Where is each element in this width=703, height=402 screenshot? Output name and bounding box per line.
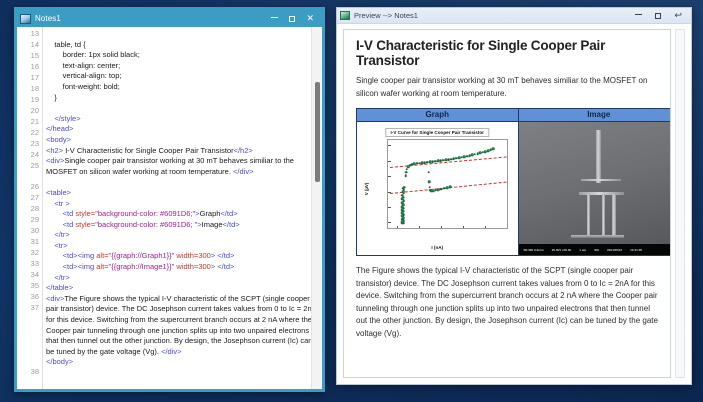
- code-token-tag: <h2>: [46, 146, 63, 155]
- line-number: 21: [17, 117, 42, 128]
- chart-y-tick-mark: [388, 207, 391, 208]
- line-number: 37: [17, 303, 42, 367]
- code-token-tag: <tr >: [46, 199, 70, 208]
- code-token-plain: font-weight: bold;: [46, 82, 120, 91]
- code-token-tag: </tr>: [46, 273, 70, 282]
- editor-body[interactable]: 1314151617181920212223242526272829303132…: [17, 27, 322, 389]
- rendered-document: I-V Characteristic for Single Cooper Pai…: [343, 29, 671, 378]
- sem-vertical-lead: [596, 130, 600, 183]
- code-token-tag: </tr>: [46, 230, 70, 239]
- close-icon[interactable]: ✕: [306, 14, 314, 23]
- line-number: 20: [17, 106, 42, 117]
- code-token-tag: <div>: [46, 294, 64, 303]
- preview-window-controls[interactable]: ↩: [635, 11, 688, 20]
- code-token-plain: table, td {: [46, 40, 86, 49]
- table-content-row: I-V Curve for Single Cooper Pair Transis…: [357, 122, 672, 256]
- code-line[interactable]: vertical-align: top;: [46, 71, 322, 82]
- code-line[interactable]: </tr>: [46, 273, 322, 284]
- code-line[interactable]: }: [46, 93, 322, 104]
- code-line[interactable]: font-weight: bold;: [46, 82, 322, 93]
- code-token-plain: Single cooper pair transistor working at…: [46, 156, 294, 176]
- sem-info-field: 1 um: [579, 248, 586, 252]
- code-line[interactable]: border: 1px solid black;: [46, 50, 322, 61]
- line-number: 24: [17, 150, 42, 161]
- sem-info-field: 20.0kV x45.0k: [552, 248, 572, 252]
- sem-pillar-center: [602, 194, 606, 237]
- code-token-plain: Graph: [200, 209, 221, 218]
- code-token-attr: style=: [75, 220, 95, 229]
- line-number: 31: [17, 237, 42, 248]
- sem-pillar-left: [587, 194, 591, 237]
- editor-window-controls[interactable]: ✕: [271, 14, 320, 23]
- code-line[interactable]: </style>: [46, 114, 322, 125]
- line-number: 15: [17, 51, 42, 62]
- code-token-tag: > </td>: [211, 262, 235, 271]
- chart-x-axis-label: I (nA): [431, 245, 443, 250]
- editor-vertical-scrollbar[interactable]: [311, 27, 322, 389]
- table-header-row: Graph Image: [357, 109, 672, 122]
- chart-x-tick-mark: [441, 226, 442, 229]
- chart-x-tick-mark: [463, 226, 464, 229]
- code-token-tag: </td>: [223, 220, 240, 229]
- code-token-tag: <td><img: [46, 262, 96, 271]
- code-line[interactable]: text-align: center;: [46, 61, 322, 72]
- code-token-tag: </table>: [46, 283, 73, 292]
- code-token-plain: }: [46, 93, 57, 102]
- code-line[interactable]: </body>: [46, 357, 322, 368]
- code-token-tag: <td><img: [46, 251, 96, 260]
- chart-data-point: [428, 171, 431, 174]
- table-cell-image: SE WD 9.9mm20.0kV x45.0k1 umSEI2024/05/1…: [518, 122, 671, 256]
- document-intro-paragraph: Single cooper pair transistor working at…: [356, 75, 660, 100]
- line-number-gutter: 1314151617181920212223242526272829303132…: [17, 27, 43, 389]
- code-token-plain: Image: [202, 220, 223, 229]
- line-number: 33: [17, 259, 42, 270]
- chart-y-tick-mark: [388, 161, 391, 162]
- code-token-tag: </div>: [233, 167, 253, 176]
- code-token-attr: alt=: [96, 251, 108, 260]
- sem-info-field: SE WD 9.9mm: [524, 248, 544, 252]
- code-token-attr: alt=: [96, 262, 108, 271]
- chart-data-point: [404, 174, 407, 177]
- table-header-graph: Graph: [357, 109, 519, 122]
- code-line[interactable]: <td style="background-color: #6091D6; ">…: [46, 220, 322, 231]
- code-token-tag: </td>: [220, 209, 237, 218]
- code-token-tag: </div>: [161, 347, 181, 356]
- code-token-val: "{{graph://Image1}}": [109, 262, 175, 271]
- code-token-plain: vertical-align: top;: [46, 71, 121, 80]
- code-line[interactable]: <table>: [46, 188, 322, 199]
- line-number: 18: [17, 84, 42, 95]
- line-number: 17: [17, 73, 42, 84]
- code-token-tag: <body>: [46, 135, 71, 144]
- code-line[interactable]: </tr>: [46, 230, 322, 241]
- chart-y-tick-mark: [388, 145, 391, 146]
- line-number: 25: [17, 161, 42, 182]
- chart-x-tick-mark: [397, 226, 398, 229]
- line-number: 27: [17, 193, 42, 204]
- line-number: 34: [17, 270, 42, 281]
- chart-x-tick-mark: [507, 226, 508, 229]
- chart-data-point: [449, 186, 452, 189]
- iv-curve-chart: I-V Curve for Single Cooper Pair Transis…: [357, 122, 518, 255]
- sem-pillar-right: [612, 194, 616, 237]
- editor-scrollbar-thumb[interactable]: [315, 82, 320, 182]
- chart-data-point: [403, 186, 406, 189]
- code-line[interactable]: [46, 29, 322, 40]
- close-icon[interactable]: ↩: [674, 11, 682, 20]
- table-header-image: Image: [518, 109, 671, 122]
- chart-data-point: [406, 168, 409, 171]
- code-token-plain: I-V Characteristic for Single Cooper Pai…: [63, 146, 233, 155]
- preview-titlebar[interactable]: Preview --> Notes1 ↩: [337, 8, 691, 24]
- chart-y-tick-mark: [388, 222, 391, 223]
- minimize-icon[interactable]: [271, 17, 278, 18]
- code-token-plain: border: 1px solid black;: [46, 50, 140, 59]
- chart-plot-area: 020040060080010000510152025: [387, 139, 508, 229]
- code-line[interactable]: <td style="background-color: #6091D6;">G…: [46, 209, 322, 220]
- code-line[interactable]: <tr >: [46, 199, 322, 210]
- code-line[interactable]: [46, 177, 322, 188]
- editor-window-title: Notes1: [35, 14, 271, 23]
- maximize-icon[interactable]: [289, 16, 295, 22]
- line-number: 28: [17, 204, 42, 215]
- sem-info-field: 2024/05/12: [607, 248, 622, 252]
- preview-document-icon: [340, 11, 350, 20]
- code-token-plain: text-align: center;: [46, 61, 120, 70]
- chart-x-tick-mark: [485, 226, 486, 229]
- line-number: 23: [17, 139, 42, 150]
- editor-titlebar[interactable]: Notes1 ✕: [17, 10, 322, 27]
- chart-data-point: [405, 171, 408, 174]
- code-line[interactable]: table, td {: [46, 40, 322, 51]
- code-token-tag: <table>: [46, 188, 71, 197]
- line-number: 13: [17, 29, 42, 40]
- code-line[interactable]: </table>: [46, 283, 322, 294]
- line-number: 32: [17, 248, 42, 259]
- code-token-tag: <tr>: [46, 241, 68, 250]
- figure-table: Graph Image I-V Curve for Single Cooper …: [356, 108, 671, 256]
- code-token-val: "background-color: #6091D6;": [95, 209, 195, 218]
- line-number: 35: [17, 281, 42, 292]
- line-number: 30: [17, 226, 42, 237]
- code-line[interactable]: <div>Single cooper pair transistor worki…: [46, 156, 322, 177]
- chart-data-point: [492, 148, 495, 151]
- table-cell-graph: I-V Curve for Single Cooper Pair Transis…: [357, 122, 519, 256]
- preview-vertical-scrollbar[interactable]: [675, 29, 685, 378]
- sem-info-field: SEI: [594, 248, 599, 252]
- code-token-tag: </h2>: [234, 146, 253, 155]
- document-heading: I-V Characteristic for Single Cooper Pai…: [356, 38, 660, 68]
- chart-y-axis-label: V (µV): [364, 182, 369, 195]
- line-number: 36: [17, 292, 42, 303]
- line-number: 38: [17, 367, 42, 378]
- sem-upper-crossbar: [581, 179, 621, 181]
- code-token-attr: width=300: [174, 262, 211, 271]
- sem-info-field: 12:31:05: [630, 248, 642, 252]
- code-token-tag: </body>: [46, 357, 73, 366]
- code-token-tag: > </td>: [211, 251, 235, 260]
- chart-x-tick-mark: [419, 226, 420, 229]
- code-line[interactable]: <h2> I-V Characteristic for Single Coope…: [46, 146, 322, 157]
- code-text-area[interactable]: table, td { border: 1px solid black; tex…: [43, 27, 322, 389]
- code-line[interactable]: <td><img alt="{{graph://Graph1}}" width=…: [46, 251, 322, 262]
- line-number: 16: [17, 62, 42, 73]
- code-token-tag: <td: [46, 209, 75, 218]
- line-number: 19: [17, 95, 42, 106]
- line-number: 29: [17, 215, 42, 226]
- line-number: 14: [17, 40, 42, 51]
- chart-title: I-V Curve for Single Cooper Pair Transis…: [386, 128, 489, 137]
- notes-document-icon: [20, 14, 31, 24]
- line-number: 22: [17, 128, 42, 139]
- code-token-val: "background-color: #6091D6; ": [95, 220, 197, 229]
- sem-micrograph: SE WD 9.9mm20.0kV x45.0k1 umSEI2024/05/1…: [519, 122, 672, 255]
- maximize-icon[interactable]: [655, 13, 661, 19]
- code-token-val: "{{graph://Graph1}}": [109, 251, 175, 260]
- code-line[interactable]: <tr>: [46, 241, 322, 252]
- code-line[interactable]: <div>The Figure shows the typical I-V ch…: [46, 294, 322, 358]
- preview-window-title: Preview --> Notes1: [354, 11, 635, 20]
- preview-body[interactable]: I-V Characteristic for Single Cooper Pai…: [337, 24, 691, 384]
- sem-info-bar: SE WD 9.9mm20.0kV x45.0k1 umSEI2024/05/1…: [519, 244, 672, 255]
- code-token-attr: style=: [75, 209, 95, 218]
- code-token-attr: width=300: [174, 251, 211, 260]
- chart-data-point: [428, 180, 431, 183]
- code-token-tag: </head>: [46, 124, 74, 133]
- code-token-tag: <td: [46, 220, 75, 229]
- code-token-tag: <div>: [46, 156, 64, 165]
- document-body-paragraph: The Figure shows the typical I-V charact…: [356, 265, 660, 341]
- minimize-icon[interactable]: [635, 14, 642, 15]
- code-line[interactable]: [46, 103, 322, 114]
- code-line[interactable]: <td><img alt="{{graph://Image1}}" width=…: [46, 262, 322, 273]
- notes-editor-window[interactable]: Notes1 ✕ 1314151617181920212223242526272…: [14, 7, 325, 392]
- preview-window[interactable]: Preview --> Notes1 ↩ I-V Characteristic …: [336, 7, 692, 385]
- sem-base-plate: [571, 235, 624, 238]
- line-number: 26: [17, 182, 42, 193]
- chart-y-tick-mark: [388, 176, 391, 177]
- code-line[interactable]: <body>: [46, 135, 322, 146]
- code-line[interactable]: </head>: [46, 124, 322, 135]
- code-token-tag: </style>: [46, 114, 81, 123]
